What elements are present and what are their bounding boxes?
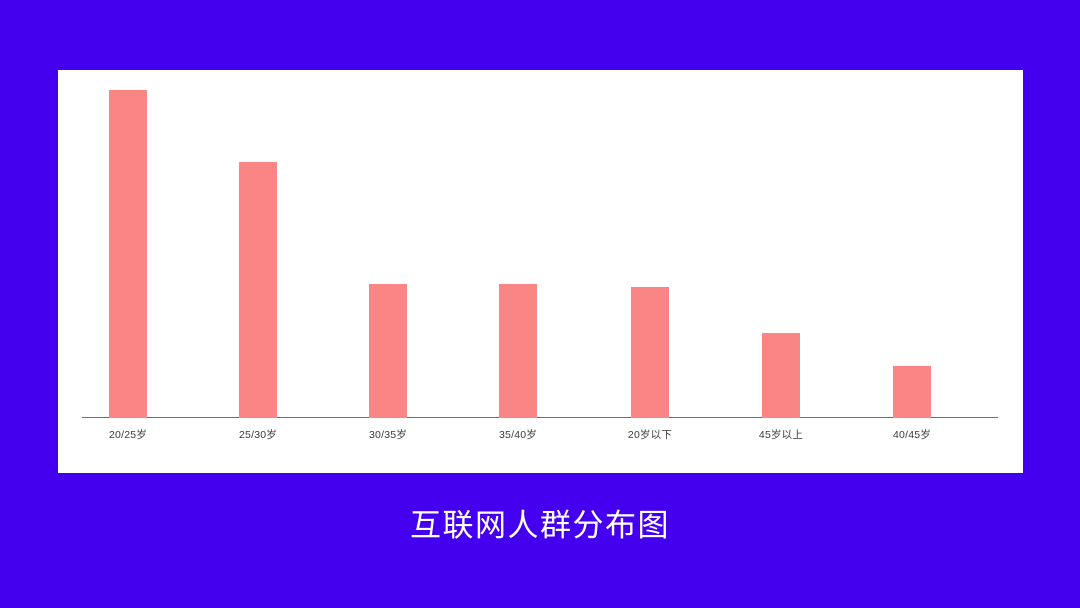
- bar-group: 30/35岁: [323, 90, 453, 418]
- bar-40-45[interactable]: [893, 366, 931, 418]
- bar-series: 20/25岁 25/30岁 30/35岁 35/40岁 20岁以下: [82, 90, 998, 418]
- bar-group: 45岁以上: [716, 90, 846, 418]
- bar-group: 25/30岁: [193, 90, 323, 418]
- bar-20-25[interactable]: [109, 90, 147, 418]
- bar-over-45[interactable]: [762, 333, 800, 418]
- bar-25-30[interactable]: [239, 162, 277, 418]
- slide-canvas: 20/25岁 25/30岁 30/35岁 35/40岁 20岁以下: [0, 0, 1080, 608]
- page-title: 互联网人群分布图: [0, 505, 1080, 547]
- bar-group: 20岁以下: [585, 90, 715, 418]
- bar-label: 40/45岁: [893, 427, 931, 442]
- bar-label: 20/25岁: [109, 427, 147, 442]
- bar-label: 45岁以上: [759, 427, 803, 442]
- bar-label: 35/40岁: [499, 427, 537, 442]
- bar-30-35[interactable]: [369, 284, 407, 418]
- bar-group: 20/25岁: [63, 90, 193, 418]
- bar-label: 25/30岁: [239, 427, 277, 442]
- bar-group: 40/45岁: [847, 90, 977, 418]
- chart-panel: 20/25岁 25/30岁 30/35岁 35/40岁 20岁以下: [58, 70, 1023, 473]
- bar-group: 35/40岁: [453, 90, 583, 418]
- bar-label: 20岁以下: [628, 427, 672, 442]
- plot-area: 20/25岁 25/30岁 30/35岁 35/40岁 20岁以下: [82, 90, 998, 418]
- bar-35-40[interactable]: [499, 284, 537, 418]
- bar-label: 30/35岁: [369, 427, 407, 442]
- bar-under-20[interactable]: [631, 287, 669, 418]
